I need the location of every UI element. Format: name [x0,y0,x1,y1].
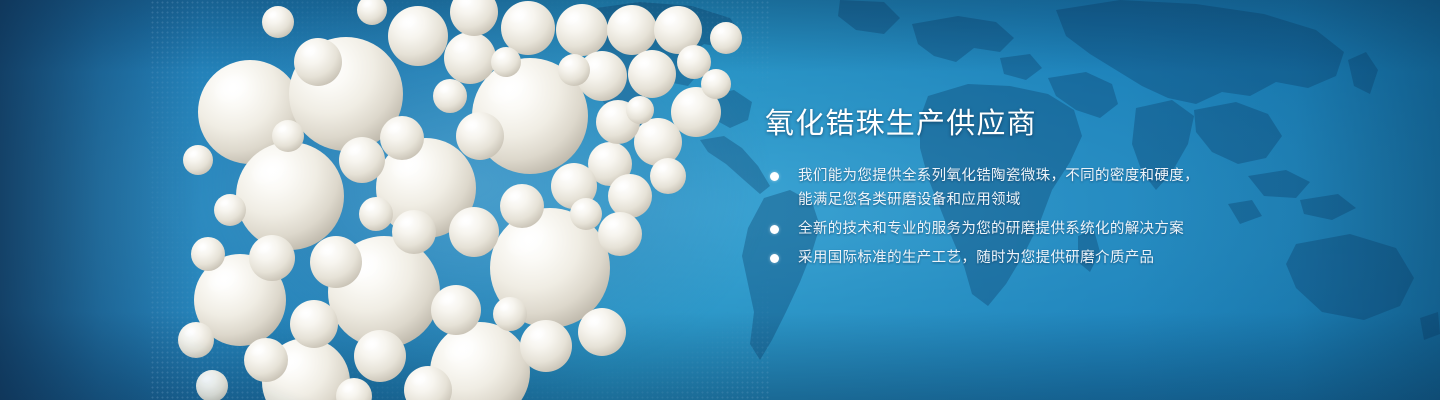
feature-list: 我们能为您提供全系列氧化锆陶瓷微珠，不同的密度和硬度， 能满足您各类研磨设备和应… [765,164,1325,270]
list-item-line: 采用国际标准的生产工艺，随时为您提供研磨介质产品 [798,246,1325,270]
list-item-line: 我们能为您提供全系列氧化锆陶瓷微珠，不同的密度和硬度， [798,164,1325,188]
list-item: 我们能为您提供全系列氧化锆陶瓷微珠，不同的密度和硬度， 能满足您各类研磨设备和应… [765,164,1325,212]
banner-copy: 氧化锆珠生产供应商 我们能为您提供全系列氧化锆陶瓷微珠，不同的密度和硬度， 能满… [765,104,1325,270]
bullet-dot-icon [770,172,779,181]
list-item: 采用国际标准的生产工艺，随时为您提供研磨介质产品 [765,246,1325,270]
bullet-dot-icon [770,254,779,263]
zirconia-beads-photo [150,0,770,400]
list-item-line: 能满足您各类研磨设备和应用领域 [798,188,1325,212]
list-item: 全新的技术和专业的服务为您的研磨提供系统化的解决方案 [765,217,1325,241]
bullet-dot-icon [770,225,779,234]
hero-banner: 氧化锆珠生产供应商 我们能为您提供全系列氧化锆陶瓷微珠，不同的密度和硬度， 能满… [0,0,1440,400]
bead-cluster [150,0,770,400]
list-item-line: 全新的技术和专业的服务为您的研磨提供系统化的解决方案 [798,217,1325,241]
page-title: 氧化锆珠生产供应商 [765,104,1325,142]
